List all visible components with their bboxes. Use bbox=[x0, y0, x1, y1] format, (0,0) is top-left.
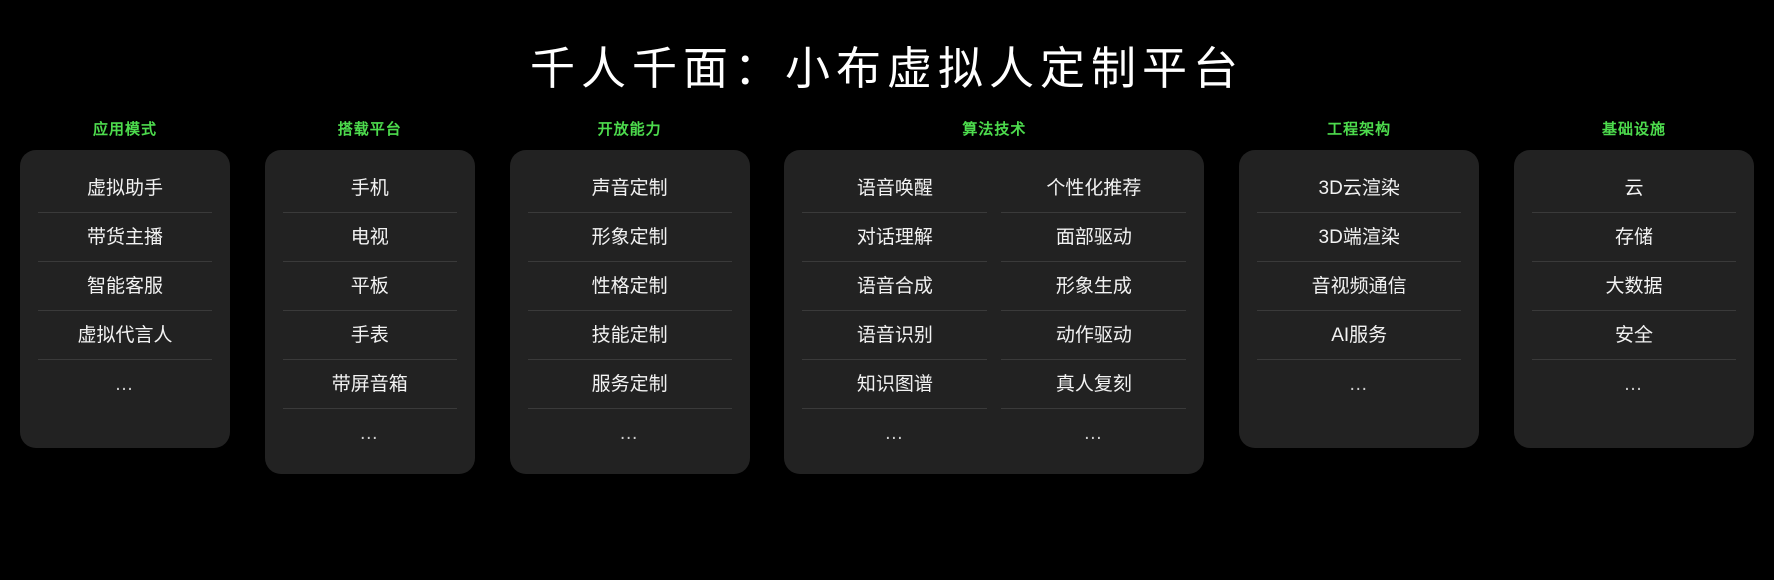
list-item[interactable]: 面部驱动 bbox=[1001, 213, 1186, 262]
list-item[interactable]: 语音唤醒 bbox=[802, 164, 987, 213]
page-title: 千人千面：小布虚拟人定制平台 bbox=[530, 42, 1244, 96]
card-application-mode: 虚拟助手 带货主播 智能客服 虚拟代言人 … bbox=[20, 150, 230, 448]
list-item[interactable]: 云 bbox=[1532, 164, 1736, 213]
list-item[interactable]: 3D端渲染 bbox=[1257, 213, 1461, 262]
list-item-more[interactable]: … bbox=[1532, 360, 1736, 409]
list-item[interactable]: 手表 bbox=[283, 311, 457, 360]
item-list-algorithm-right: 个性化推荐 面部驱动 形象生成 动作驱动 真人复刻 … bbox=[1001, 164, 1186, 458]
list-item-more[interactable]: … bbox=[38, 360, 212, 409]
list-item[interactable]: 带货主播 bbox=[38, 213, 212, 262]
column-platform: 搭载平台 手机 电视 平板 手表 带屏音箱 … bbox=[265, 118, 475, 474]
column-header-platform: 搭载平台 bbox=[265, 118, 475, 139]
list-item[interactable]: 动作驱动 bbox=[1001, 311, 1186, 360]
card-platform: 手机 电视 平板 手表 带屏音箱 … bbox=[265, 150, 475, 474]
list-spacer bbox=[38, 409, 212, 432]
list-item[interactable]: 虚拟代言人 bbox=[38, 311, 212, 360]
list-item[interactable]: 个性化推荐 bbox=[1001, 164, 1186, 213]
list-item[interactable]: 大数据 bbox=[1532, 262, 1736, 311]
list-item[interactable]: AI服务 bbox=[1257, 311, 1461, 360]
column-algorithm-technology: 算法技术 语音唤醒 对话理解 语音合成 语音识别 知识图谱 … 个性化推荐 面部… bbox=[784, 118, 1204, 474]
list-item[interactable]: 性格定制 bbox=[528, 262, 732, 311]
list-item[interactable]: 电视 bbox=[283, 213, 457, 262]
list-item[interactable]: 对话理解 bbox=[802, 213, 987, 262]
list-item-more[interactable]: … bbox=[802, 409, 987, 458]
list-item[interactable]: 安全 bbox=[1532, 311, 1736, 360]
column-header-application-mode: 应用模式 bbox=[20, 118, 230, 139]
column-application-mode: 应用模式 虚拟助手 带货主播 智能客服 虚拟代言人 … bbox=[20, 118, 230, 448]
list-item[interactable]: 形象定制 bbox=[528, 213, 732, 262]
item-list-open-capability: 声音定制 形象定制 性格定制 技能定制 服务定制 … bbox=[528, 164, 732, 458]
slide-root: 千人千面：小布虚拟人定制平台 应用模式 虚拟助手 带货主播 智能客服 虚拟代言人… bbox=[0, 0, 1774, 580]
list-item[interactable]: 平板 bbox=[283, 262, 457, 311]
column-header-infrastructure: 基础设施 bbox=[1514, 118, 1754, 139]
list-spacer bbox=[1532, 409, 1736, 432]
list-item[interactable]: 虚拟助手 bbox=[38, 164, 212, 213]
list-item-more[interactable]: … bbox=[528, 409, 732, 458]
list-item[interactable]: 手机 bbox=[283, 164, 457, 213]
column-header-open-capability: 开放能力 bbox=[510, 118, 750, 139]
list-item[interactable]: 语音合成 bbox=[802, 262, 987, 311]
list-item[interactable]: 技能定制 bbox=[528, 311, 732, 360]
item-list-platform: 手机 电视 平板 手表 带屏音箱 … bbox=[283, 164, 457, 458]
column-header-algorithm-technology: 算法技术 bbox=[784, 118, 1204, 139]
item-list-algorithm-left: 语音唤醒 对话理解 语音合成 语音识别 知识图谱 … bbox=[802, 164, 987, 458]
list-item-more[interactable]: … bbox=[1257, 360, 1461, 409]
column-engineering-architecture: 工程架构 3D云渲染 3D端渲染 音视频通信 AI服务 … bbox=[1239, 118, 1479, 448]
list-item[interactable]: 真人复刻 bbox=[1001, 360, 1186, 409]
list-item[interactable]: 智能客服 bbox=[38, 262, 212, 311]
list-item[interactable]: 声音定制 bbox=[528, 164, 732, 213]
list-item[interactable]: 3D云渲染 bbox=[1257, 164, 1461, 213]
list-spacer bbox=[1257, 409, 1461, 432]
list-item[interactable]: 带屏音箱 bbox=[283, 360, 457, 409]
list-item[interactable]: 音视频通信 bbox=[1257, 262, 1461, 311]
list-item-more[interactable]: … bbox=[283, 409, 457, 458]
columns-container: 应用模式 虚拟助手 带货主播 智能客服 虚拟代言人 … 搭载平台 手机 电视 bbox=[0, 118, 1774, 474]
list-item[interactable]: 知识图谱 bbox=[802, 360, 987, 409]
card-open-capability: 声音定制 形象定制 性格定制 技能定制 服务定制 … bbox=[510, 150, 750, 474]
card-algorithm-technology: 语音唤醒 对话理解 语音合成 语音识别 知识图谱 … 个性化推荐 面部驱动 形象… bbox=[784, 150, 1204, 474]
column-open-capability: 开放能力 声音定制 形象定制 性格定制 技能定制 服务定制 … bbox=[510, 118, 750, 474]
list-item[interactable]: 语音识别 bbox=[802, 311, 987, 360]
item-list-infrastructure: 云 存储 大数据 安全 … bbox=[1532, 164, 1736, 432]
list-item[interactable]: 存储 bbox=[1532, 213, 1736, 262]
column-infrastructure: 基础设施 云 存储 大数据 安全 … bbox=[1514, 118, 1754, 448]
item-list-application-mode: 虚拟助手 带货主播 智能客服 虚拟代言人 … bbox=[38, 164, 212, 432]
card-engineering-architecture: 3D云渲染 3D端渲染 音视频通信 AI服务 … bbox=[1239, 150, 1479, 448]
list-item[interactable]: 服务定制 bbox=[528, 360, 732, 409]
column-header-engineering-architecture: 工程架构 bbox=[1239, 118, 1479, 139]
item-list-engineering-architecture: 3D云渲染 3D端渲染 音视频通信 AI服务 … bbox=[1257, 164, 1461, 432]
list-item-more[interactable]: … bbox=[1001, 409, 1186, 458]
list-item[interactable]: 形象生成 bbox=[1001, 262, 1186, 311]
card-infrastructure: 云 存储 大数据 安全 … bbox=[1514, 150, 1754, 448]
